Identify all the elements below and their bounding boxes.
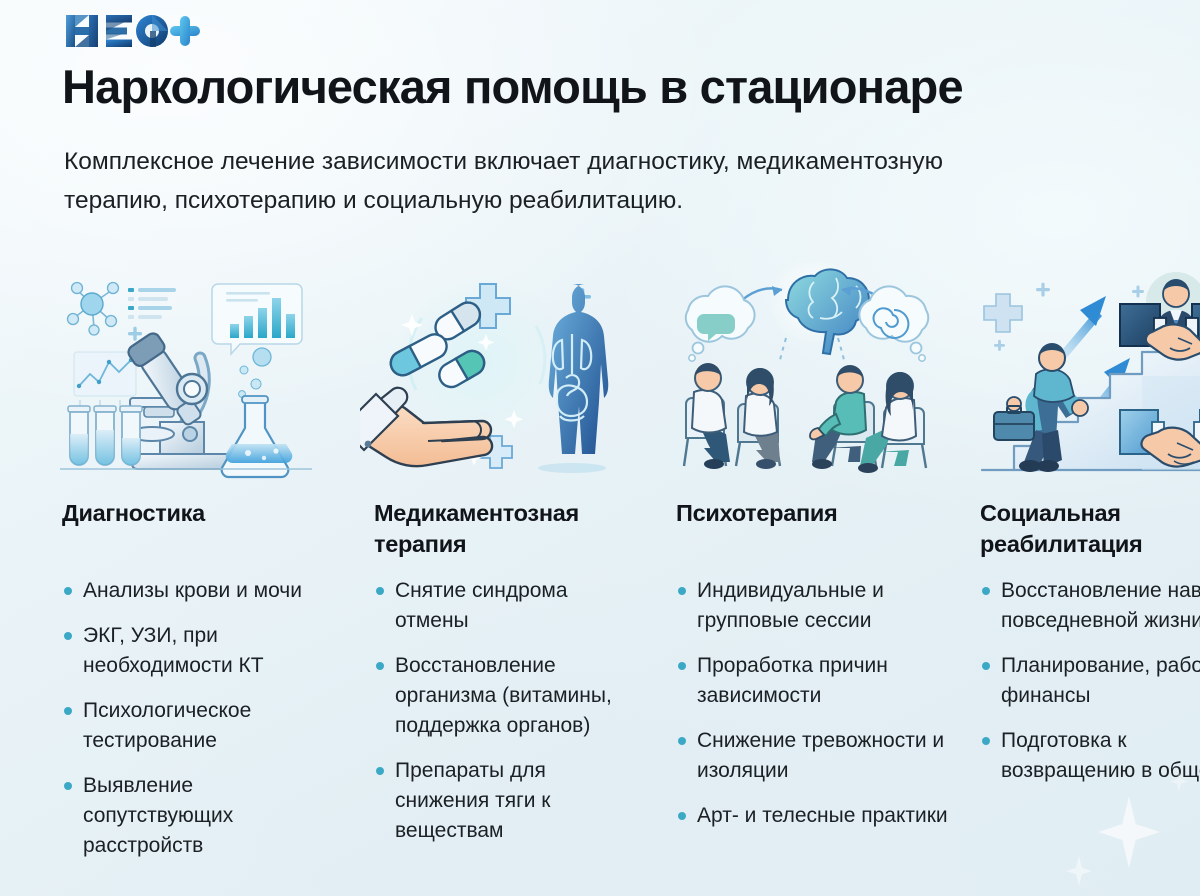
seated-people [684, 363, 926, 473]
brand-logo [64, 11, 202, 51]
column-social-rehab: Социальная реабилитация Восстановление н… [962, 262, 1200, 882]
bullet-list-psychotherapy: Индивидуальные и групповые сессии Прораб… [676, 576, 948, 831]
page-subtitle: Комплексное лечение зависимости включает… [64, 142, 964, 220]
medication-hand-body-illustration [360, 262, 636, 480]
test-tubes [68, 406, 142, 465]
list-item: Снижение тревожности и изоляции [676, 726, 948, 786]
logo-letter-o [136, 15, 168, 47]
medical-cross [984, 294, 1022, 332]
column-heading-diagnostics: Диагностика [62, 498, 320, 560]
list-item: Индивидуальные и групповые сессии [676, 576, 948, 636]
column-diagnostics: Диагностика Анализы крови и мочи ЭКГ, УЗ… [0, 262, 334, 882]
line-chart-panel [74, 352, 136, 412]
bullet-list-social-rehab: Восстановление навыков повседневной жизн… [980, 576, 1200, 786]
bullet-list-diagnostics: Анализы крови и мочи ЭКГ, УЗИ, при необх… [62, 576, 320, 861]
column-heading-social-rehab: Социальная реабилитация [980, 498, 1200, 560]
group-therapy-illustration [668, 262, 948, 480]
logo-letter-n [66, 15, 98, 47]
logo-letter-e [106, 15, 132, 47]
content-columns: Диагностика Анализы крови и мочи ЭКГ, УЗ… [0, 262, 1200, 882]
microscope [126, 331, 232, 469]
list-item: Арт- и телесные практики [676, 801, 948, 831]
list-item: Восстановление организма (витамины, подд… [374, 651, 636, 741]
page-title: Наркологическая помощь в стационаре [62, 58, 1162, 116]
list-item: Проработка причин зависимости [676, 651, 948, 711]
checklist-lines [128, 288, 176, 319]
logo-plus-icon [170, 16, 200, 46]
social-rehabilitation-illustration [974, 262, 1200, 480]
laboratory-microscope-illustration [52, 262, 320, 480]
column-heading-medication: Медикаментозная терапия [374, 498, 636, 560]
bullet-list-medication: Снятие синдрома отмены Восстановление ор… [374, 576, 636, 846]
list-item: Анализы крови и мочи [62, 576, 320, 606]
person-2 [736, 368, 780, 469]
list-item: Препараты для снижения тяги к веществам [374, 756, 636, 846]
list-item: Планирование, работа, финансы [980, 651, 1200, 711]
list-item: ЭКГ, УЗИ, при необходимости КТ [62, 621, 320, 681]
bar-chart-bubble [212, 284, 302, 354]
infographic-page: Наркологическая помощь в стационаре Комп… [0, 0, 1200, 896]
column-heading-psychotherapy: Психотерапия [676, 498, 948, 560]
erlenmeyer-flask [222, 396, 293, 477]
bubbles [239, 348, 271, 397]
list-item: Подготовка к возвращению в общество [980, 726, 1200, 786]
small-cross-icon [128, 327, 142, 341]
column-psychotherapy: Психотерапия Индивидуальные и групповые … [646, 262, 962, 882]
handshake-top [1120, 272, 1200, 360]
list-item: Психологическое тестирование [62, 696, 320, 756]
person-1 [684, 363, 730, 469]
list-item: Выявление сопутствующих расстройств [62, 771, 320, 861]
list-item: Восстановление навыков повседневной жизн… [980, 576, 1200, 636]
column-medication: Медикаментозная терапия Снятие синдрома … [334, 262, 646, 882]
list-item: Снятие синдрома отмены [374, 576, 636, 636]
